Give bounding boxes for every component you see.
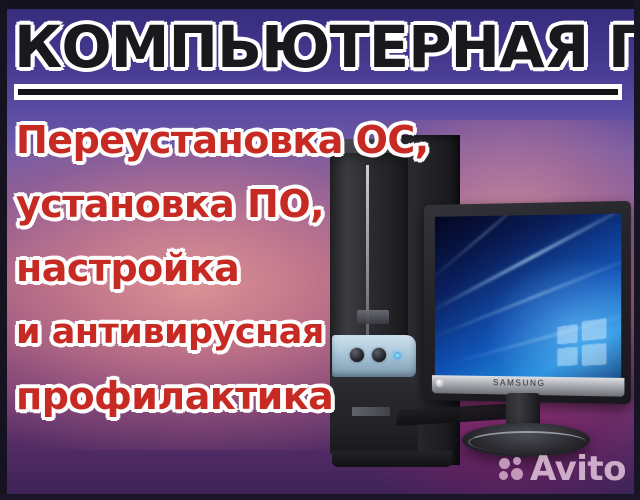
service-line-2: установка ПО, [16, 172, 376, 236]
service-line-5: профилактика [16, 364, 376, 428]
power-led-icon [394, 352, 401, 359]
headline-underline-bar [18, 89, 618, 95]
headline-block: КОМПЬЮТЕРНАЯ ПОМОЩЬ [14, 16, 628, 78]
wallpaper-streak [435, 214, 549, 287]
advert-poster: SAMSUNG КОМПЬЮТЕРНАЯ ПОМОЩЬ Переустановк… [0, 0, 640, 500]
service-line-3: настройка [16, 236, 376, 300]
frame-border-left [0, 0, 7, 500]
monitor-power-button[interactable] [436, 379, 444, 387]
avito-dots-icon [499, 457, 525, 481]
monitor-screen [435, 214, 621, 378]
avito-wordmark: Avito [530, 452, 626, 486]
frame-border-right [634, 0, 640, 500]
windows-flag-icon [557, 318, 606, 368]
monitor-brand-label: SAMSUNG [492, 378, 546, 388]
monitor-bezel: SAMSUNG [424, 201, 631, 404]
service-line-4: и антивирусная [16, 300, 376, 364]
page-title: КОМПЬЮТЕРНАЯ ПОМОЩЬ [14, 16, 640, 78]
lcd-monitor: SAMSUNG [424, 205, 632, 455]
service-line-1: Переустановка ОС, [16, 108, 376, 172]
avito-watermark: Avito [499, 452, 626, 486]
frame-border-bottom [0, 494, 640, 500]
frame-border-top [0, 0, 640, 9]
service-list: Переустановка ОС, установка ПО, настройк… [16, 108, 376, 428]
